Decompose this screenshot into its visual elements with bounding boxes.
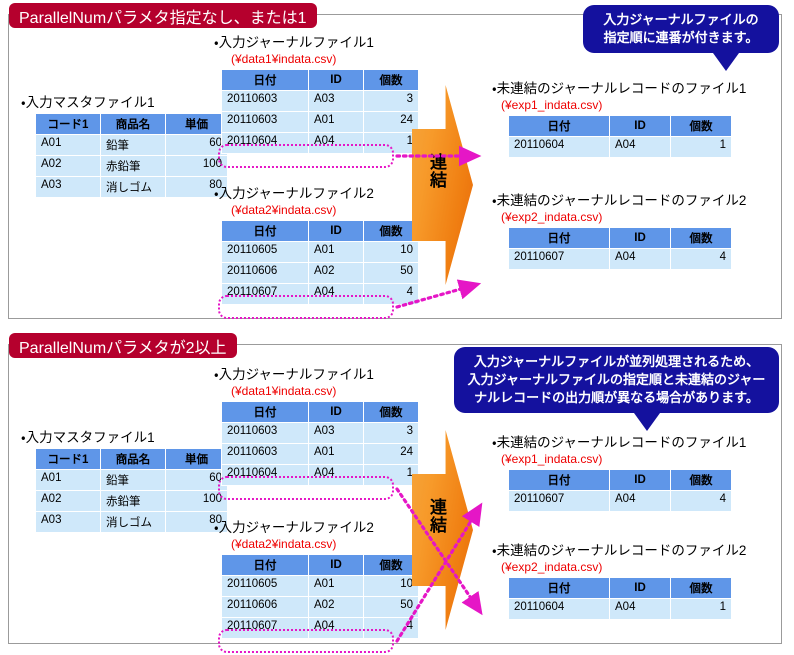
table-cell: 4 [671,491,732,512]
table-row: A02赤鉛筆100 [36,491,228,512]
column-header: 日付 [222,555,309,576]
table-cell: 60 [166,470,228,491]
output-file1-path-bottom: (¥exp1_indata.csv) [501,452,602,466]
table-cell: A01 [36,135,101,156]
input-journal1-caption-bottom: ・入力ジャーナルファイル1 [214,367,374,382]
output-file1-path-top: (¥exp1_indata.csv) [501,98,602,112]
column-header: 単価 [166,114,228,135]
table-row: 20110607A044 [222,618,419,639]
table-row: 20110604A041 [222,133,419,154]
input-journal1-caption-top: ・入力ジャーナルファイル1 [214,35,374,50]
table-cell: 10 [364,242,419,263]
callout-bubble-top: 入力ジャーナルファイルの 指定順に連番が付きます。 [583,5,779,53]
table-cell: 20110604 [509,137,610,158]
table-row: 20110607A044 [222,284,419,305]
column-header: 日付 [509,470,610,491]
table-cell: 20110606 [222,597,309,618]
column-header: コード1 [36,114,101,135]
table-header-row: コード1商品名単価 [36,114,228,135]
table-cell: A04 [309,284,364,305]
column-header: ID [309,221,364,242]
table-cell: A04 [610,599,671,620]
table-cell: A02 [36,156,101,177]
output-file1-table-bottom: 日付ID個数20110607A044 [508,469,732,512]
table-cell: A04 [309,133,364,154]
output-file2-caption-bottom: ・未連結のジャーナルレコードのファイル2 [492,543,746,558]
panel-parallelnum-none-or-1: ParallelNumパラメタ指定なし、または1 ・入力マスタファイル1 コード… [8,14,782,319]
table-header-row: 日付ID個数 [509,116,732,137]
column-header: 商品名 [101,449,166,470]
table-header-row: 日付ID個数 [222,555,419,576]
input-journal2-caption-bottom: ・入力ジャーナルファイル2 [214,520,374,535]
table-cell: A04 [610,137,671,158]
column-header: コード1 [36,449,101,470]
table-cell: 20110607 [509,491,610,512]
table-row: 20110606A0250 [222,263,419,284]
table-row: A03消しゴム80 [36,512,228,533]
column-header: 個数 [671,470,732,491]
master-file-caption-bottom: ・入力マスタファイル1 [21,430,155,445]
table-cell: A04 [309,618,364,639]
output-file2-table-bottom: 日付ID個数20110604A041 [508,577,732,620]
table-cell: 20110603 [222,91,309,112]
table-cell: A01 [309,444,364,465]
column-header: 単価 [166,449,228,470]
table-row: A01鉛筆60 [36,470,228,491]
output-file2-path-top: (¥exp2_indata.csv) [501,210,602,224]
table-cell: 1 [671,137,732,158]
column-header: ID [610,470,671,491]
output-file1-caption-top: ・未連結のジャーナルレコードのファイル1 [492,81,746,96]
column-header: 日付 [222,70,309,91]
table-cell: 鉛筆 [101,135,166,156]
input-journal2-path-top: (¥data2¥indata.csv) [231,203,336,217]
column-header: 商品名 [101,114,166,135]
table-cell: 50 [364,263,419,284]
table-cell: 100 [166,491,228,512]
column-header: 日付 [509,578,610,599]
input-journal2-table-bottom: 日付ID個数20110605A011020110606A025020110607… [221,554,419,639]
table-cell: 消しゴム [101,177,166,198]
table-row: 20110604A041 [509,137,732,158]
table-row: 20110607A044 [509,249,732,270]
column-header: 個数 [671,578,732,599]
callout-line: ナルレコードの出力順が異なる場合があります。 [464,389,769,407]
table-cell: A03 [309,91,364,112]
input-journal2-caption-top: ・入力ジャーナルファイル2 [214,186,374,201]
table-header-row: 日付ID個数 [222,402,419,423]
column-header: 個数 [364,402,419,423]
table-row: 20110604A041 [222,465,419,486]
table-row: 20110605A0110 [222,242,419,263]
input-journal1-path-bottom: (¥data1¥indata.csv) [231,384,336,398]
callout-tail-icon [713,53,739,71]
table-cell: A04 [309,465,364,486]
table-cell: 20110604 [222,133,309,154]
table-cell: 20110607 [222,618,309,639]
table-cell: A03 [36,512,101,533]
output-file2-path-bottom: (¥exp2_indata.csv) [501,560,602,574]
table-cell: 3 [364,91,419,112]
column-header: ID [309,555,364,576]
column-header: 日付 [222,221,309,242]
table-header-row: 日付ID個数 [222,221,419,242]
column-header: ID [610,228,671,249]
table-cell: A04 [610,491,671,512]
table-header-row: 日付ID個数 [509,470,732,491]
table-cell: A03 [36,177,101,198]
table-cell: 60 [166,135,228,156]
column-header: 個数 [364,70,419,91]
table-cell: 赤鉛筆 [101,156,166,177]
join-arrow-label-top: 連結 [427,153,446,189]
column-header: ID [309,402,364,423]
table-row: 20110606A0250 [222,597,419,618]
master-file-table-bottom: コード1商品名単価A01鉛筆60A02赤鉛筆100A03消しゴム80 [35,448,228,533]
callout-line: 指定順に連番が付きます。 [593,29,769,47]
callout-bubble-bottom: 入力ジャーナルファイルが並列処理されるため、 入力ジャーナルファイルの指定順と未… [454,347,779,413]
table-cell: 10 [364,576,419,597]
table-row: A02赤鉛筆100 [36,156,228,177]
panel-banner-bottom: ParallelNumパラメタが2以上 [9,333,237,358]
table-cell: 4 [364,284,419,305]
table-row: 20110605A0110 [222,576,419,597]
callout-line: 入力ジャーナルファイルが並列処理されるため、 [464,353,769,371]
table-cell: A02 [309,597,364,618]
table-cell: 4 [364,618,419,639]
panel-banner-top: ParallelNumパラメタ指定なし、または1 [9,3,317,28]
input-journal2-path-bottom: (¥data2¥indata.csv) [231,537,336,551]
table-cell: 20110604 [509,599,610,620]
panel-parallelnum-2-or-more: ParallelNumパラメタが2以上 ・入力マスタファイル1 コード1商品名単… [8,344,782,644]
table-cell: 1 [364,465,419,486]
table-cell: 24 [364,444,419,465]
column-header: ID [610,116,671,137]
table-row: 20110603A033 [222,91,419,112]
table-row: 20110603A0124 [222,444,419,465]
output-file2-table-top: 日付ID個数20110607A044 [508,227,732,270]
table-cell: 4 [671,249,732,270]
table-cell: 消しゴム [101,512,166,533]
column-header: 個数 [671,116,732,137]
join-arrow-label-bottom: 連結 [427,498,446,534]
output-file2-caption-top: ・未連結のジャーナルレコードのファイル2 [492,193,746,208]
column-header: 日付 [509,116,610,137]
table-cell: 20110603 [222,444,309,465]
table-cell: A03 [309,423,364,444]
table-row: 20110607A044 [509,491,732,512]
input-journal1-table-bottom: 日付ID個数20110603A03320110603A012420110604A… [221,401,419,486]
table-header-row: 日付ID個数 [222,70,419,91]
table-cell: 24 [364,112,419,133]
table-cell: 20110603 [222,423,309,444]
table-cell: A01 [309,242,364,263]
table-cell: 20110607 [222,284,309,305]
table-cell: 20110607 [509,249,610,270]
table-cell: 鉛筆 [101,470,166,491]
output-file1-caption-bottom: ・未連結のジャーナルレコードのファイル1 [492,435,746,450]
table-cell: A01 [309,112,364,133]
table-cell: 50 [364,597,419,618]
column-header: 日付 [509,228,610,249]
table-cell: 20110604 [222,465,309,486]
table-row: 20110603A033 [222,423,419,444]
table-cell: 100 [166,156,228,177]
column-header: ID [610,578,671,599]
table-cell: 1 [671,599,732,620]
input-journal1-path-top: (¥data1¥indata.csv) [231,52,336,66]
column-header: 個数 [671,228,732,249]
input-journal2-table-top: 日付ID個数20110605A011020110606A025020110607… [221,220,419,305]
table-cell: A02 [36,491,101,512]
table-cell: 20110605 [222,242,309,263]
table-row: A03消しゴム80 [36,177,228,198]
table-header-row: 日付ID個数 [509,578,732,599]
column-header: 日付 [222,402,309,423]
table-cell: 20110606 [222,263,309,284]
callout-line: 入力ジャーナルファイルの [593,11,769,29]
table-row: 20110604A041 [509,599,732,620]
column-header: ID [309,70,364,91]
output-file1-table-top: 日付ID個数20110604A041 [508,115,732,158]
table-cell: 1 [364,133,419,154]
table-cell: A04 [610,249,671,270]
input-journal1-table-top: 日付ID個数20110603A03320110603A012420110604A… [221,69,419,154]
table-cell: 3 [364,423,419,444]
table-row: A01鉛筆60 [36,135,228,156]
column-header: 個数 [364,221,419,242]
callout-tail-icon [634,413,660,431]
table-header-row: コード1商品名単価 [36,449,228,470]
table-header-row: 日付ID個数 [509,228,732,249]
table-row: 20110603A0124 [222,112,419,133]
table-cell: A01 [36,470,101,491]
callout-line: 入力ジャーナルファイルの指定順と未連結のジャー [464,371,769,389]
table-cell: 20110603 [222,112,309,133]
table-cell: 赤鉛筆 [101,491,166,512]
column-header: 個数 [364,555,419,576]
table-cell: A02 [309,263,364,284]
table-cell: A01 [309,576,364,597]
master-file-caption-top: ・入力マスタファイル1 [21,95,155,110]
master-file-table-top: コード1商品名単価A01鉛筆60A02赤鉛筆100A03消しゴム80 [35,113,228,198]
table-cell: 20110605 [222,576,309,597]
